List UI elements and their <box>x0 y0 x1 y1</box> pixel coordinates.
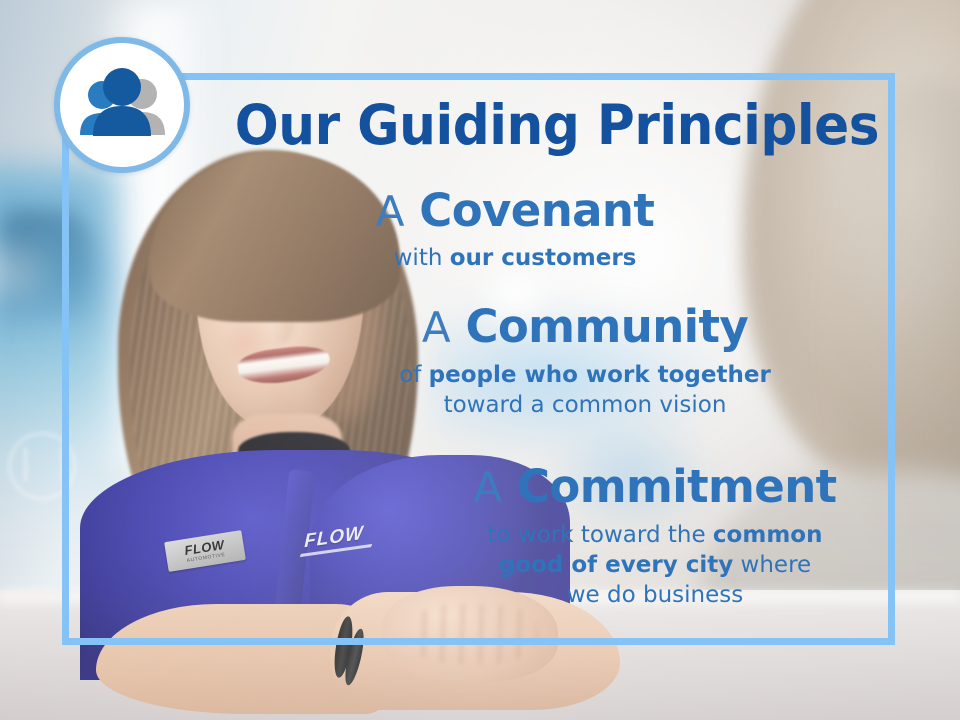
principle-subtext-line: good of every city where <box>420 550 890 580</box>
principle-subtext: with our customers <box>300 243 730 273</box>
principle-subtext: to work toward the commongood of every c… <box>420 520 890 610</box>
principle-subtext-line: toward a common vision <box>350 390 820 420</box>
principle-subtext-line: with our customers <box>300 243 730 273</box>
principle-subtext-line: we do business <box>420 580 890 610</box>
principle-block-commitment: A Commitment to work toward the commongo… <box>420 462 890 610</box>
principle-block-covenant: A Covenant with our customers <box>300 186 730 273</box>
principle-block-community: A Community of people who work togethert… <box>350 302 820 420</box>
page-title: Our Guiding Principles <box>235 96 855 154</box>
principle-headline: A Commitment <box>420 462 890 513</box>
principle-article: A <box>376 187 405 236</box>
principle-subtext: of people who work togethertoward a comm… <box>350 360 820 420</box>
blurred-car-window <box>0 210 95 320</box>
principle-noun: Community <box>465 300 748 353</box>
blurred-brand-emblem <box>8 432 76 500</box>
guiding-principles-graphic: FLOW AUTOMOTIVE FLOW Our Guiding Princip… <box>0 0 960 720</box>
principle-noun: Covenant <box>419 184 654 237</box>
principle-headline: A Covenant <box>300 186 730 237</box>
principle-article: A <box>422 303 451 352</box>
woman-fingers <box>408 604 538 664</box>
principle-subtext-line: to work toward the common <box>420 520 890 550</box>
group-of-people-icon <box>54 37 190 173</box>
principle-noun: Commitment <box>517 460 837 513</box>
principle-article: A <box>473 463 502 512</box>
principle-subtext-line: of people who work together <box>350 360 820 390</box>
principle-headline: A Community <box>350 302 820 353</box>
